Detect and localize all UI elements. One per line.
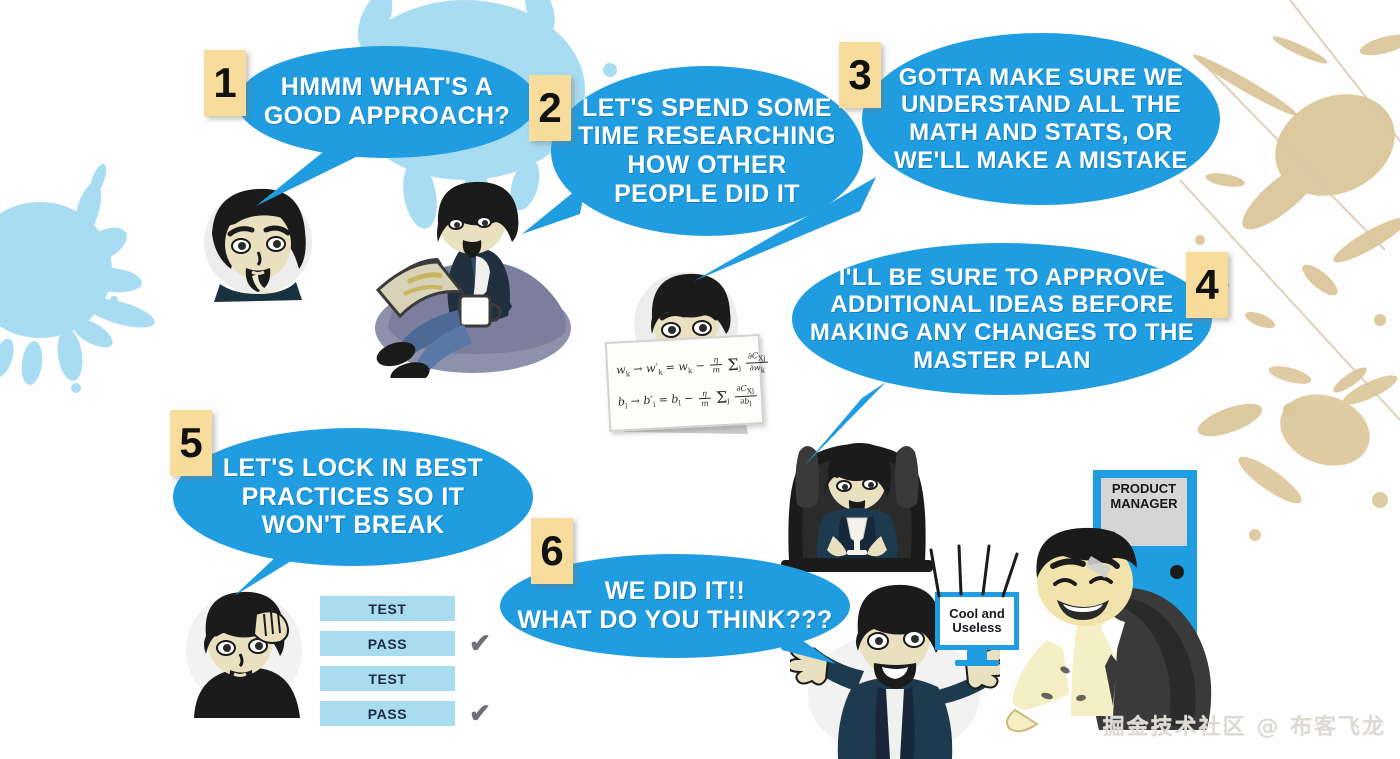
speech-bubble-2-text: LET'S SPEND SOME TIME RESEARCHING HOW OT… (562, 94, 852, 209)
checklist-row: TEST (320, 666, 497, 691)
speech-bubble-5-text: LET'S LOCK IN BEST PRACTICES SO IT WON'T… (207, 454, 499, 540)
watermark: 掘金技术社区 @ 布客飞龙 (1103, 709, 1386, 741)
checkmark-icon (463, 596, 497, 621)
equation-biases: bl → b′l = bl − ηm Σj ∂CXj∂bl (617, 383, 753, 414)
monitor-text: Cool and Useless (949, 607, 1005, 636)
speech-bubble-2[interactable]: LET'S SPEND SOME TIME RESEARCHING HOW OT… (551, 66, 863, 236)
paint-splatter-tan-right (1170, 0, 1400, 460)
speech-bubble-3[interactable]: GOTTA MAKE SURE WE UNDERSTAND ALL THE MA… (862, 33, 1220, 205)
monitor-stand (967, 650, 987, 660)
step-badge-3: 3 (839, 42, 881, 108)
checklist-label: TEST (320, 596, 455, 621)
paint-splatter-blue-left (0, 150, 200, 400)
checklist-label: PASS (320, 631, 455, 656)
speech-bubble-4-text: I'LL BE SURE TO APPROVE ADDITIONAL IDEAS… (794, 264, 1210, 374)
test-pass-checklist: TEST PASS ✔ TEST PASS ✔ (320, 596, 497, 736)
speech-bubble-6-text: WE DID IT!! WHAT DO YOU THINK??? (501, 577, 848, 635)
checklist-label: TEST (320, 666, 455, 691)
speech-bubble-1-text: HMMM WHAT'S A GOOD APPROACH? (248, 73, 526, 131)
door-sign-text: PRODUCT MANAGER (1110, 482, 1177, 511)
step-badge-4: 4 (1186, 252, 1228, 318)
speech-bubble-1[interactable]: HMMM WHAT'S A GOOD APPROACH? (237, 46, 537, 158)
checklist-row: PASS ✔ (320, 631, 497, 656)
checkmark-icon: ✔ (463, 631, 497, 656)
whiteboard-equations: wk → w′k = wk − ηm Σj ∂CXj∂wk bl → b′l =… (605, 334, 764, 432)
monitor-cool-and-useless: Cool and Useless (935, 592, 1019, 666)
step-badge-6: 6 (531, 518, 573, 584)
shine-lines-icon (925, 540, 1035, 605)
speech-bubble-5[interactable]: LET'S LOCK IN BEST PRACTICES SO IT WON'T… (173, 428, 533, 566)
step-badge-2: 2 (529, 75, 571, 141)
speech-bubble-4[interactable]: I'LL BE SURE TO APPROVE ADDITIONAL IDEAS… (792, 243, 1212, 395)
checklist-row: TEST (320, 596, 497, 621)
paint-splatter-tan-bottom-right (1230, 330, 1400, 570)
speech-bubble-3-text: GOTTA MAKE SURE WE UNDERSTAND ALL THE MA… (878, 64, 1204, 174)
checklist-row: PASS ✔ (320, 701, 497, 726)
monitor-base (955, 660, 999, 666)
step-badge-5: 5 (170, 410, 212, 476)
comic-canvas: wk → w′k = wk − ηm Σj ∂CXj∂wk bl → b′l =… (0, 0, 1400, 759)
step-badge-1: 1 (204, 50, 246, 116)
checkmark-icon: ✔ (463, 701, 497, 726)
speech-tail-4 (800, 380, 890, 470)
checklist-label: PASS (320, 701, 455, 726)
checkmark-icon (463, 666, 497, 691)
equation-weights: wk → w′k = wk − ηm Σj ∂CXj∂wk (616, 351, 752, 382)
